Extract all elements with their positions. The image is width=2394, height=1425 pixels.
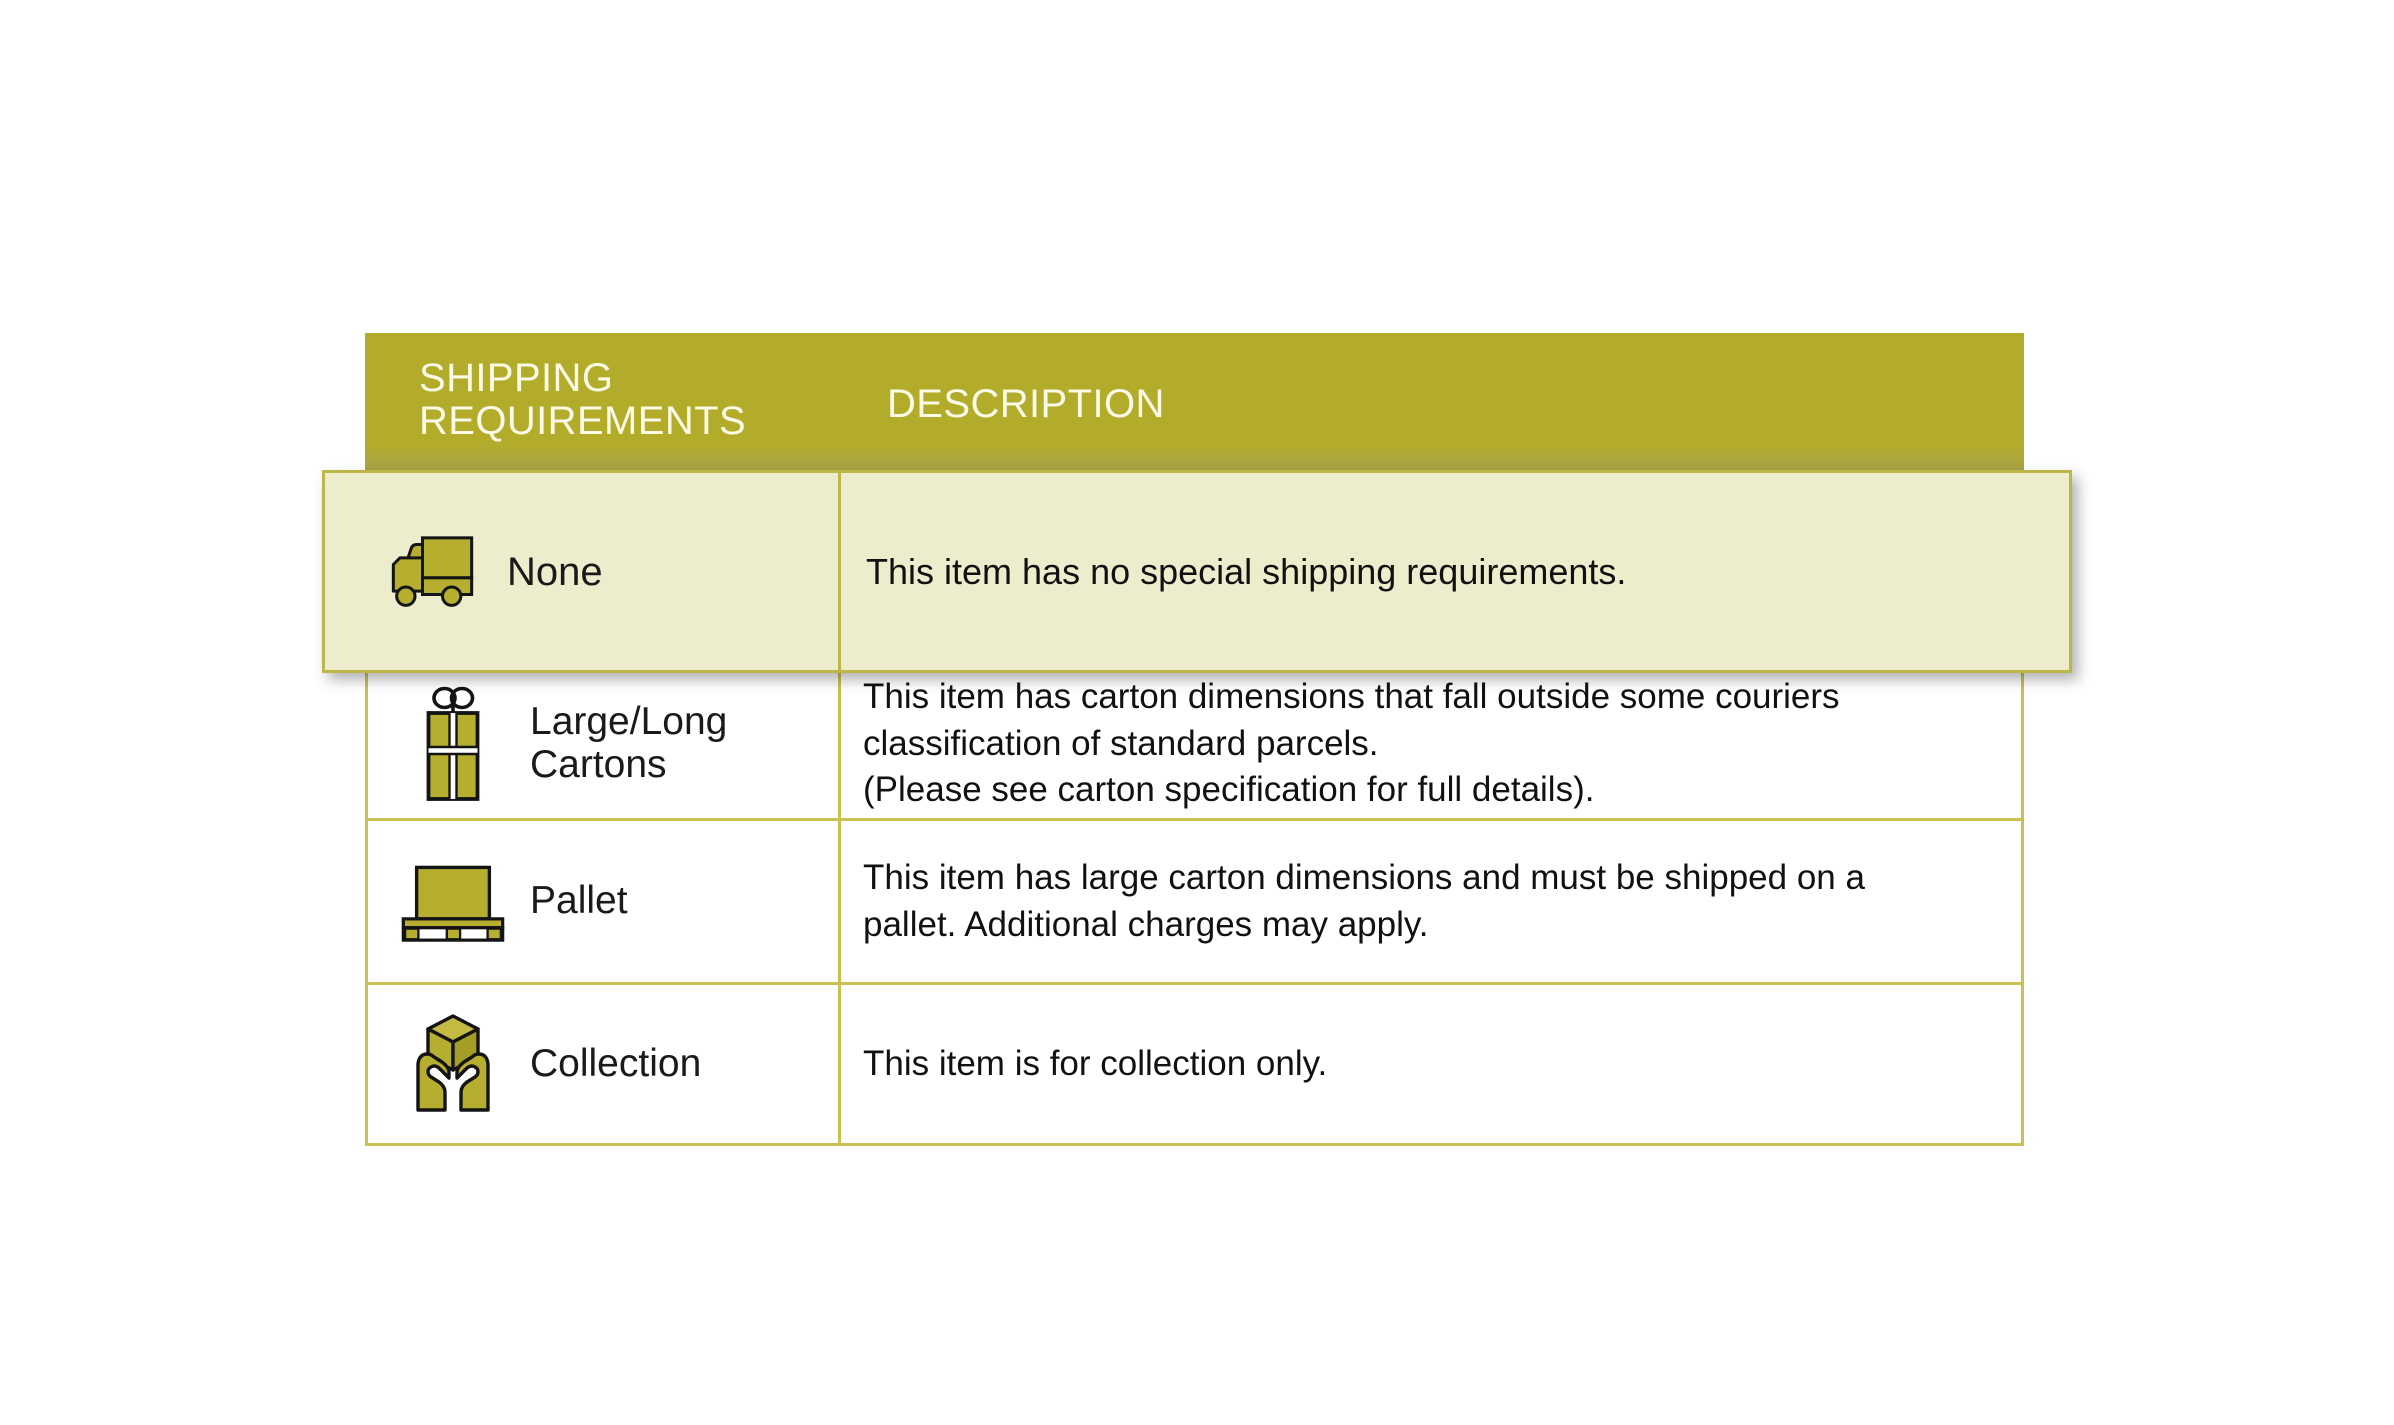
column-header-line-2: REQUIREMENTS	[419, 400, 838, 443]
description-line-3: (Please see carton specification for ful…	[863, 767, 1840, 814]
description-line-1: This item has carton dimensions that fal…	[863, 674, 1840, 721]
tall-gift-carton-icon	[398, 685, 508, 803]
cell-requirement: Collection	[368, 985, 841, 1143]
table-row[interactable]: Collection This item is for collection o…	[365, 985, 2024, 1146]
cell-description: This item has no special shipping requir…	[841, 473, 2069, 670]
column-header-shipping-requirements: SHIPPING REQUIREMENTS	[365, 333, 838, 443]
cell-requirement: Large/Long Cartons	[368, 670, 841, 818]
column-header-description: DESCRIPTION	[838, 333, 2024, 426]
delivery-truck-icon	[375, 525, 485, 619]
shipping-requirements-table: SHIPPING REQUIREMENTS DESCRIPTION	[365, 333, 2024, 1146]
hands-holding-box-icon	[398, 1010, 508, 1118]
requirement-label: Pallet	[530, 880, 628, 923]
requirement-label: Collection	[530, 1043, 701, 1086]
cell-description: This item has carton dimensions that fal…	[841, 670, 2021, 818]
page-canvas: SHIPPING REQUIREMENTS DESCRIPTION	[0, 0, 2394, 1425]
cell-requirement: Pallet	[368, 821, 841, 982]
column-header-line-1: SHIPPING	[419, 357, 838, 400]
description-line-1: This item has large carton dimensions an…	[863, 855, 1865, 902]
description-line-2: classification of standard parcels.	[863, 721, 1840, 768]
description-text: This item has carton dimensions that fal…	[863, 674, 1840, 814]
description-text: This item has large carton dimensions an…	[863, 855, 1865, 948]
table-header-row: SHIPPING REQUIREMENTS DESCRIPTION	[365, 333, 2024, 470]
requirement-label: None	[507, 550, 603, 594]
description-line-2: pallet. Additional charges may apply.	[863, 902, 1865, 949]
table-row[interactable]: Pallet This item has large carton dimens…	[365, 821, 2024, 985]
cell-description: This item is for collection only.	[841, 985, 2021, 1143]
description-text: This item is for collection only.	[863, 1041, 1327, 1088]
requirement-label-line-2: Cartons	[530, 744, 727, 787]
pallet-box-icon	[398, 854, 508, 950]
cell-requirement: None	[325, 473, 841, 670]
requirement-label: Large/Long Cartons	[530, 701, 727, 787]
table-row-highlighted[interactable]: None This item has no special shipping r…	[322, 470, 2072, 673]
cell-description: This item has large carton dimensions an…	[841, 821, 2021, 982]
table-row[interactable]: Large/Long Cartons This item has carton …	[365, 670, 2024, 821]
description-text: This item has no special shipping requir…	[866, 548, 1626, 596]
requirement-label-line-1: Large/Long	[530, 701, 727, 744]
